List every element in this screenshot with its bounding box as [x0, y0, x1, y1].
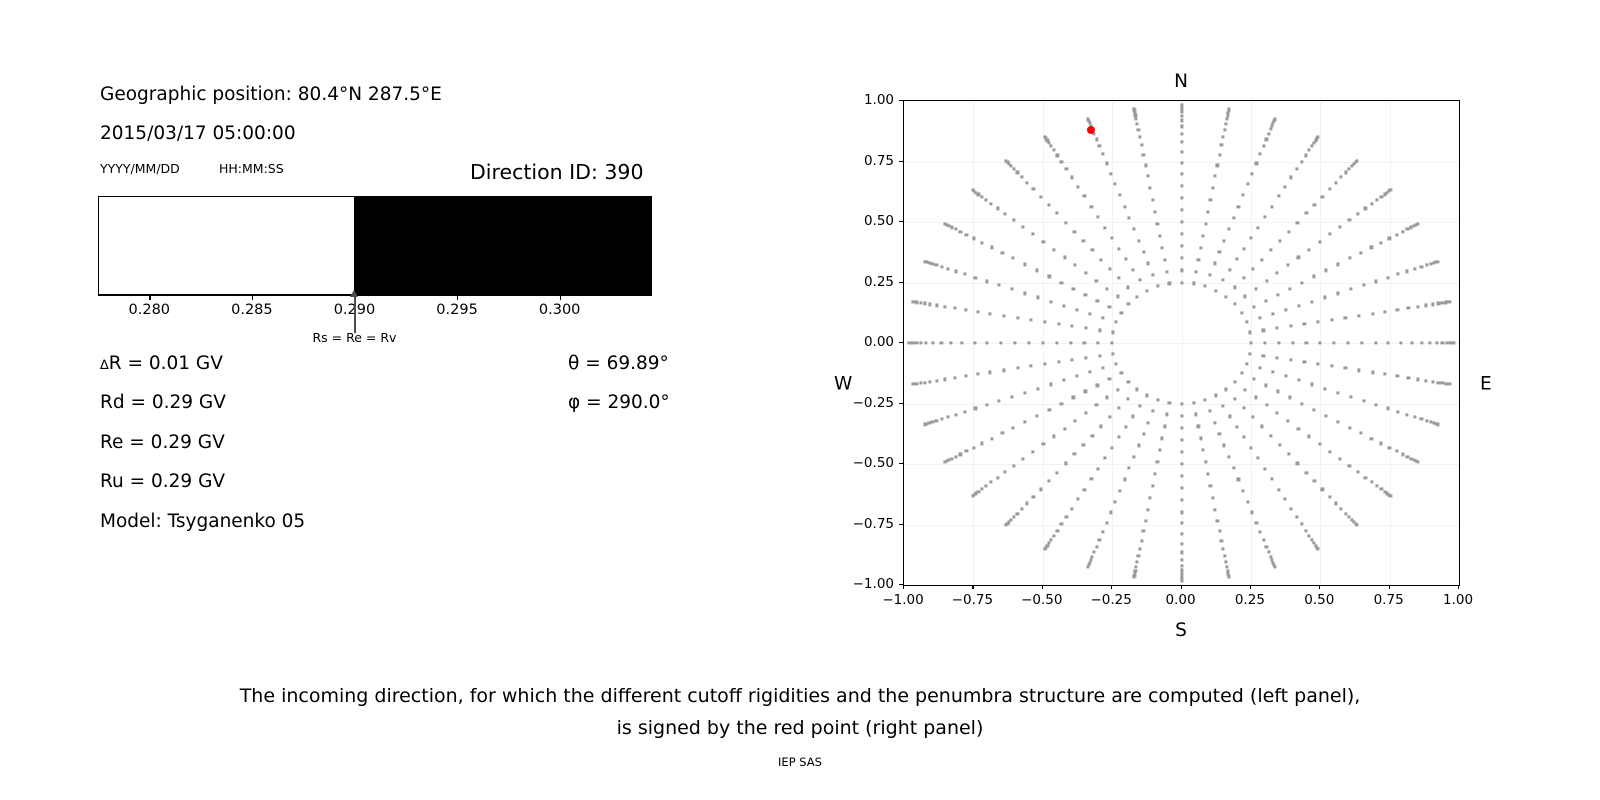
- direction-dot: [1364, 476, 1367, 479]
- direction-dot: [972, 237, 975, 240]
- direction-dot: [1222, 279, 1225, 282]
- direction-dot: [1042, 443, 1045, 446]
- direction-dot: [1374, 280, 1377, 283]
- direction-dot: [1263, 341, 1266, 344]
- direction-dot: [1097, 341, 1100, 344]
- direction-dot: [1355, 524, 1358, 527]
- direction-dot: [1002, 314, 1005, 317]
- polar-scatter-plot: [903, 100, 1460, 586]
- figure-caption: The incoming direction, for which the di…: [0, 680, 1600, 744]
- direction-dot: [1001, 251, 1004, 254]
- parameters-left-column: ∆R = 0.01 GVRd = 0.29 GVRe = 0.29 GVRu =…: [100, 355, 440, 552]
- direction-dot: [1388, 237, 1391, 240]
- x-axis-tick-label: 1.00: [1443, 592, 1473, 608]
- direction-dot: [928, 380, 931, 383]
- direction-dot: [1060, 402, 1063, 405]
- direction-dot: [1265, 138, 1268, 141]
- direction-dot: [1180, 450, 1183, 453]
- direction-dot: [1316, 547, 1319, 550]
- direction-dot: [935, 379, 938, 382]
- direction-dot: [1113, 501, 1116, 504]
- direction-dot: [1278, 239, 1281, 242]
- direction-dot: [1284, 308, 1287, 311]
- direction-dot: [1379, 442, 1382, 445]
- direction-dot: [1089, 370, 1092, 373]
- direction-dot: [1235, 425, 1238, 428]
- direction-dot: [1271, 312, 1274, 315]
- direction-dot: [1180, 172, 1183, 175]
- direction-dot: [1287, 230, 1290, 233]
- direction-dot: [1180, 104, 1183, 107]
- direction-dot: [924, 260, 927, 263]
- direction-dot: [1057, 360, 1060, 363]
- direction-dot: [1115, 321, 1118, 324]
- direction-dot: [954, 228, 957, 231]
- parameter-row: Model: Tsyganenko 05: [100, 513, 440, 552]
- direction-dot: [1147, 421, 1150, 424]
- direction-dot: [1389, 188, 1392, 191]
- direction-dot: [1041, 341, 1044, 344]
- direction-dot: [1396, 410, 1399, 413]
- footer-credit: IEP SAS: [0, 755, 1600, 769]
- selected-direction-marker[interactable]: [1087, 126, 1095, 134]
- x-axis-tick: [903, 585, 904, 589]
- direction-dot: [1056, 529, 1059, 532]
- direction-dot: [1330, 365, 1333, 368]
- direction-dot: [1305, 212, 1308, 215]
- direction-dot: [1449, 300, 1452, 303]
- direction-id-label: Direction ID: 390: [470, 160, 644, 184]
- direction-dot: [1016, 367, 1019, 370]
- direction-dot: [1348, 219, 1351, 222]
- direction-dot: [1224, 122, 1227, 125]
- direction-dot: [1396, 308, 1399, 311]
- direction-dot: [1288, 396, 1291, 399]
- direction-dot: [1270, 205, 1273, 208]
- direction-dot: [1168, 401, 1171, 404]
- y-axis-tick: [899, 403, 903, 404]
- direction-dot: [1077, 185, 1080, 188]
- direction-dot: [915, 341, 918, 344]
- direction-dot: [1165, 413, 1168, 416]
- direction-dot: [1237, 478, 1240, 481]
- compass-west-label: W: [834, 374, 852, 395]
- x-axis-tick: [1250, 585, 1251, 589]
- direction-dot: [1251, 416, 1254, 419]
- direction-dot: [1087, 118, 1090, 121]
- direction-dot: [1118, 194, 1121, 197]
- direction-dot: [919, 341, 922, 344]
- direction-dot: [1113, 182, 1116, 185]
- direction-dot: [1117, 277, 1120, 280]
- direction-dot: [1180, 533, 1183, 536]
- direction-dot: [1374, 403, 1377, 406]
- direction-dot: [1084, 327, 1087, 330]
- direction-dot: [1097, 467, 1100, 470]
- direction-dot: [1348, 426, 1351, 429]
- direction-dot: [1359, 251, 1362, 254]
- direction-dot: [1065, 515, 1068, 518]
- direction-dot: [1396, 375, 1399, 378]
- x-axis-tick-label: 0.25: [1235, 592, 1265, 608]
- direction-dot: [1082, 239, 1085, 242]
- direction-dot: [1348, 464, 1351, 467]
- direction-dot: [1251, 172, 1254, 175]
- direction-dot: [1407, 307, 1410, 310]
- direction-dot: [1073, 453, 1076, 456]
- direction-dot: [1208, 273, 1211, 276]
- direction-dot: [1180, 245, 1183, 248]
- direction-dot: [1300, 160, 1303, 163]
- direction-dot: [1262, 329, 1265, 332]
- direction-dot: [1277, 195, 1280, 198]
- direction-dot: [1142, 432, 1145, 435]
- direction-dot: [1242, 436, 1245, 439]
- direction-dot: [1218, 153, 1221, 156]
- direction-dot: [1324, 414, 1327, 417]
- direction-dot: [1071, 325, 1074, 328]
- direction-dot: [1052, 248, 1055, 251]
- direction-dot: [1344, 171, 1347, 174]
- direction-dot: [1262, 145, 1265, 148]
- direction-dot: [1215, 289, 1218, 292]
- direction-dot: [931, 262, 934, 265]
- direction-dot: [1180, 551, 1183, 554]
- compass-east-label: E: [1480, 374, 1492, 395]
- direction-dot: [1318, 443, 1321, 446]
- direction-dot: [1098, 145, 1101, 148]
- direction-dot: [1204, 461, 1207, 464]
- direction-dot: [1135, 295, 1138, 298]
- geographic-position-label: Geographic position: 80.4°N 287.5°E: [100, 84, 442, 105]
- direction-dot: [1265, 279, 1268, 282]
- direction-dot: [1032, 495, 1035, 498]
- direction-dot: [1127, 380, 1130, 383]
- direction-dot: [1262, 538, 1265, 541]
- direction-dot: [1215, 394, 1218, 397]
- direction-dot: [1269, 249, 1272, 252]
- direction-dot: [1070, 176, 1073, 179]
- direction-dot: [1362, 399, 1365, 402]
- direction-dot: [1044, 135, 1047, 138]
- parameter-row: Rd = 0.29 GV: [100, 394, 440, 433]
- direction-dot: [1096, 384, 1099, 387]
- direction-dot: [1287, 453, 1290, 456]
- direction-dot: [1204, 222, 1207, 225]
- direction-dot: [1278, 443, 1281, 446]
- direction-dot: [1180, 150, 1183, 153]
- direction-dot: [1249, 341, 1252, 344]
- direction-dot: [1313, 203, 1316, 206]
- direction-dot: [984, 485, 987, 488]
- direction-dot: [1095, 279, 1098, 282]
- direction-dot: [1334, 502, 1337, 505]
- direction-dot: [1227, 576, 1230, 579]
- direction-dot: [1023, 292, 1026, 295]
- direction-dot: [925, 341, 928, 344]
- direction-dot: [1105, 162, 1108, 165]
- direction-dot: [1180, 475, 1183, 478]
- direction-dot: [1260, 425, 1263, 428]
- direction-dot: [954, 270, 957, 273]
- direction-dot: [1165, 270, 1168, 273]
- direction-dot: [1264, 384, 1267, 387]
- direction-dot: [1255, 521, 1258, 524]
- direction-dot: [1227, 228, 1230, 231]
- direction-dot: [1106, 287, 1109, 290]
- direction-dot: [986, 403, 989, 406]
- direction-dot: [980, 241, 983, 244]
- direction-dot: [1371, 312, 1374, 315]
- direction-dot: [1355, 159, 1358, 162]
- direction-dot: [1291, 341, 1294, 344]
- direction-dot: [1235, 258, 1238, 261]
- direction-dot: [1264, 299, 1267, 302]
- direction-dot: [1317, 320, 1320, 323]
- penumbra-allowed-band: [354, 196, 652, 295]
- direction-dot: [1321, 488, 1324, 491]
- direction-dot: [1109, 511, 1112, 514]
- direction-dot: [1158, 449, 1161, 452]
- direction-dot: [989, 312, 992, 315]
- direction-dot: [1206, 472, 1209, 475]
- direction-dot: [1338, 457, 1341, 460]
- direction-dot: [1324, 269, 1327, 272]
- direction-dot: [1180, 579, 1183, 582]
- direction-dot: [1359, 432, 1362, 435]
- direction-dot: [1344, 316, 1347, 319]
- rigidity-annotation-label: Rs = Re = Rv: [313, 330, 397, 345]
- direction-dot: [1050, 383, 1053, 386]
- direction-dot: [1168, 282, 1171, 285]
- direction-dot: [1374, 341, 1377, 344]
- direction-dot: [1142, 153, 1145, 156]
- y-axis-tick: [899, 100, 903, 101]
- direction-dot: [1297, 304, 1300, 307]
- direction-dot: [1449, 383, 1452, 386]
- x-axis-tick-label: 0.50: [1304, 592, 1334, 608]
- direction-dot: [1296, 221, 1299, 224]
- direction-dot: [1072, 287, 1075, 290]
- direction-dot: [1142, 250, 1145, 253]
- direction-dot: [963, 410, 966, 413]
- x-axis-tick-label: −0.75: [952, 592, 993, 608]
- direction-dot: [1242, 277, 1245, 280]
- direction-dot: [1124, 258, 1127, 261]
- direction-dot: [1437, 381, 1440, 384]
- direction-dot: [1180, 257, 1183, 260]
- y-axis-tick: [899, 342, 903, 343]
- direction-dot: [1328, 495, 1331, 498]
- direction-dot: [1209, 198, 1212, 201]
- direction-dot: [1074, 419, 1077, 422]
- rigidity-annotation: Rs = Re = Rv: [98, 295, 652, 347]
- direction-dot: [1084, 390, 1087, 393]
- direction-dot: [1424, 379, 1427, 382]
- direction-dot: [1161, 437, 1164, 440]
- direction-dot: [1259, 153, 1262, 156]
- direction-dot: [1252, 305, 1255, 308]
- direction-dot: [1244, 388, 1247, 391]
- direction-dot: [1032, 188, 1035, 191]
- direction-dot: [1180, 522, 1183, 525]
- direction-dot: [1213, 262, 1216, 265]
- direction-dot: [1082, 443, 1085, 446]
- direction-dot: [1158, 234, 1161, 237]
- direction-dot: [1144, 519, 1147, 522]
- direction-dot: [1401, 230, 1404, 233]
- direction-dot: [1115, 362, 1118, 365]
- direction-dot: [1151, 273, 1154, 276]
- direction-dot: [1344, 367, 1347, 370]
- direction-dot: [1131, 415, 1134, 418]
- direction-dot: [1151, 198, 1154, 201]
- direction-dot: [1202, 449, 1205, 452]
- direction-dot: [974, 276, 977, 279]
- direction-dot: [1336, 292, 1339, 295]
- direction-dot: [1428, 341, 1431, 344]
- direction-dot: [1370, 437, 1373, 440]
- direction-dot: [1334, 181, 1337, 184]
- direction-dot: [1360, 341, 1363, 344]
- direction-dot: [1425, 264, 1428, 267]
- direction-dot: [1338, 226, 1341, 229]
- direction-dot: [1413, 415, 1416, 418]
- direction-dot: [1137, 555, 1140, 558]
- direction-dot: [940, 418, 943, 421]
- direction-dot: [1286, 264, 1289, 267]
- direction-dot: [1396, 273, 1399, 276]
- direction-dot: [1308, 149, 1311, 152]
- direction-dot: [1224, 388, 1227, 391]
- direction-dot: [1105, 521, 1108, 524]
- direction-dot: [1263, 216, 1266, 219]
- direction-dot: [1441, 341, 1444, 344]
- direction-dot: [1084, 356, 1087, 359]
- direction-dot: [1128, 466, 1131, 469]
- direction-dot: [1087, 565, 1090, 568]
- direction-dot: [1180, 132, 1183, 135]
- y-axis-tick: [899, 221, 903, 222]
- direction-dot: [1227, 107, 1230, 110]
- direction-dot: [1300, 402, 1303, 405]
- direction-dot: [1108, 378, 1111, 381]
- direction-dot: [907, 341, 910, 344]
- direction-dot: [1305, 341, 1308, 344]
- direction-dot: [1370, 481, 1373, 484]
- direction-dot: [1227, 455, 1230, 458]
- direction-dot: [1136, 561, 1139, 564]
- direction-dot: [1300, 523, 1303, 526]
- direction-dot: [1180, 269, 1183, 272]
- direction-dot: [1039, 488, 1042, 491]
- direction-dot: [1133, 576, 1136, 579]
- direction-dot: [1220, 144, 1223, 147]
- direction-dot: [1138, 548, 1141, 551]
- direction-dot: [1138, 135, 1141, 138]
- y-axis-tick-label: 0.25: [820, 274, 894, 290]
- direction-dot: [1083, 195, 1086, 198]
- direction-dot: [1030, 365, 1033, 368]
- direction-dot: [1388, 446, 1391, 449]
- direction-dot: [1180, 161, 1183, 164]
- datetime-label: 2015/03/17 05:00:00: [100, 123, 296, 144]
- direction-dot: [1156, 398, 1159, 401]
- direction-dot: [1225, 117, 1228, 120]
- direction-dot: [1202, 234, 1205, 237]
- direction-dot: [1036, 414, 1039, 417]
- direction-dot: [1364, 207, 1367, 210]
- direction-dot: [1140, 539, 1143, 542]
- direction-dot: [1013, 341, 1016, 344]
- direction-dot: [1048, 275, 1051, 278]
- direction-dot: [953, 376, 956, 379]
- direction-dot: [980, 488, 983, 491]
- direction-dot: [1097, 216, 1100, 219]
- direction-dot: [944, 222, 947, 225]
- y-axis-tick-label: −0.75: [820, 516, 894, 532]
- direction-dot: [1060, 160, 1063, 163]
- direction-dot: [1180, 114, 1183, 117]
- direction-dot: [1310, 144, 1313, 147]
- direction-dot: [1146, 508, 1149, 511]
- direction-dot: [1156, 285, 1159, 288]
- direction-dot: [1138, 404, 1141, 407]
- direction-dot: [1002, 369, 1005, 372]
- direction-dot: [1091, 249, 1094, 252]
- compass-south-label: S: [1175, 620, 1187, 641]
- direction-dot: [1077, 498, 1080, 501]
- date-format-hint: YYYY/MM/DD: [100, 161, 180, 176]
- y-axis-tick-label: −0.50: [820, 455, 894, 471]
- direction-dot: [1297, 427, 1300, 430]
- parameter-row: θ = 69.89°: [568, 355, 758, 394]
- direction-dot: [1084, 411, 1087, 414]
- direction-dot: [1140, 144, 1143, 147]
- direction-dot: [1180, 414, 1183, 417]
- parameter-row: φ = 290.0°: [568, 394, 758, 433]
- parameter-row: Re = 0.29 GV: [100, 434, 440, 473]
- direction-dot: [1276, 327, 1279, 330]
- direction-dot: [1194, 270, 1197, 273]
- direction-dot: [1098, 538, 1101, 541]
- direction-dot: [1084, 271, 1087, 274]
- direction-dot: [919, 301, 922, 304]
- y-axis-tick-label: −1.00: [820, 576, 894, 592]
- direction-dot: [1318, 240, 1321, 243]
- direction-dot: [1329, 450, 1332, 453]
- direction-dot: [923, 381, 926, 384]
- direction-dot: [931, 420, 934, 423]
- direction-dot: [1349, 395, 1352, 398]
- direction-dot: [1071, 358, 1074, 361]
- direction-dot: [1228, 268, 1231, 271]
- direction-dot: [1246, 182, 1249, 185]
- direction-dot: [944, 305, 947, 308]
- direction-dot: [1276, 411, 1279, 414]
- direction-dot: [1313, 480, 1316, 483]
- direction-dot: [1180, 141, 1183, 144]
- direction-dot: [1117, 406, 1120, 409]
- direction-dot: [1213, 421, 1216, 424]
- direction-dot: [1057, 322, 1060, 325]
- direction-dot: [1145, 289, 1148, 292]
- direction-dot: [1137, 444, 1140, 447]
- direction-dot: [1012, 257, 1015, 260]
- direction-dot: [1050, 300, 1053, 303]
- x-axis-tick-label: −1.00: [882, 592, 923, 608]
- x-axis-tick-label: 0.75: [1374, 592, 1404, 608]
